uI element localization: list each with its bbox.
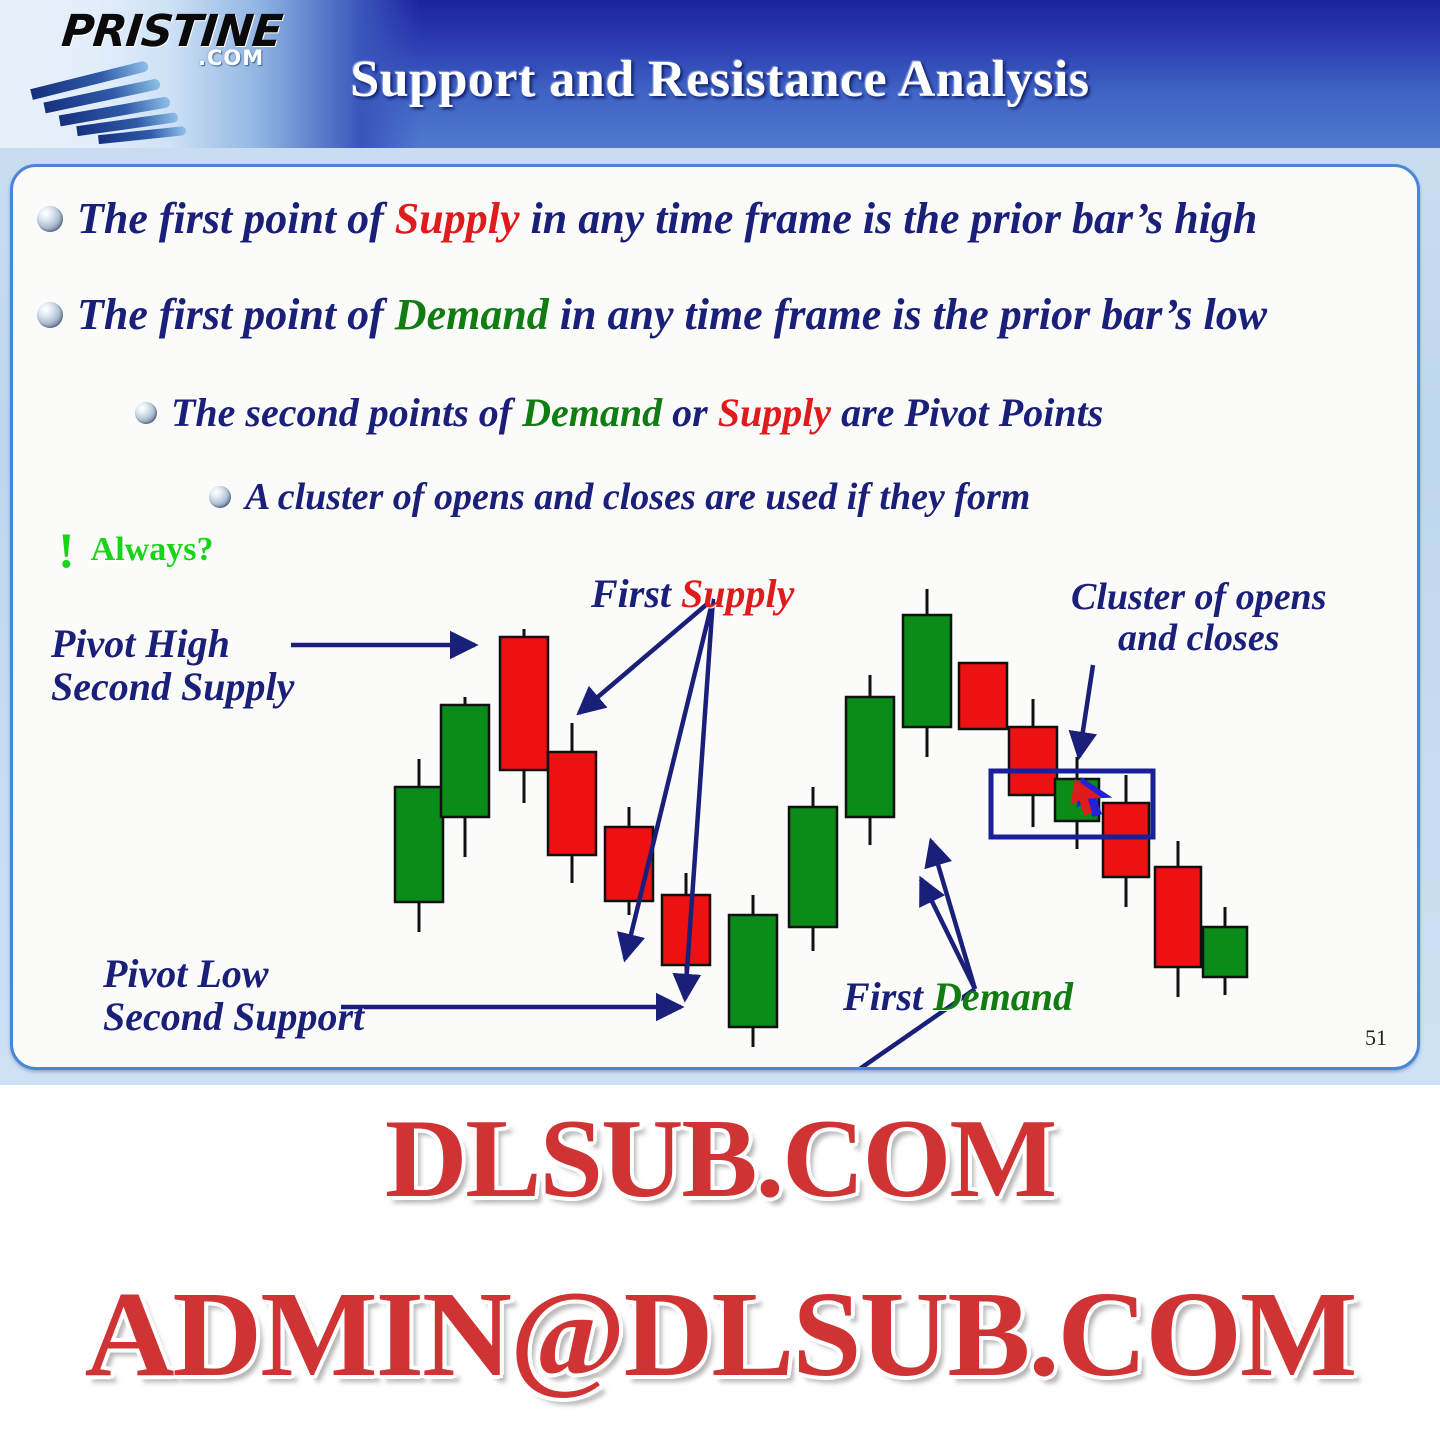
watermark-site: DLSUB.COM — [0, 1095, 1440, 1224]
candle-body-down — [1155, 867, 1201, 967]
arrow-cluster — [1079, 665, 1093, 757]
slide: PRISTINE .COM Support and Resistance Ana… — [0, 0, 1440, 1085]
candle-body-up — [789, 807, 837, 927]
candle-body-up — [441, 705, 489, 817]
annotation-first-demand-prefix: First — [843, 974, 933, 1019]
candle-body-down — [959, 663, 1007, 729]
annotation-cluster-line1: Cluster of opens — [1071, 577, 1326, 618]
annotation-pivot-high: Pivot High Second Supply — [51, 622, 294, 708]
annotation-first-demand-word: Demand — [933, 974, 1073, 1019]
annotation-cluster-line2: and closes — [1071, 618, 1326, 659]
candle-body-down — [548, 752, 596, 855]
annotation-pivot-high-line1: Pivot High — [51, 622, 294, 665]
candle-body-up — [903, 615, 951, 727]
annotation-first-supply: First Supply — [591, 572, 794, 615]
page-title: Support and Resistance Analysis — [0, 50, 1440, 109]
annotation-pivot-low-line1: Pivot Low — [103, 952, 364, 995]
candle-body-up — [395, 787, 443, 902]
watermark-area: DLSUB.COM ADMIN@DLSUB.COM — [0, 1085, 1440, 1440]
annotation-first-demand: First Demand — [843, 975, 1073, 1018]
candle-body-up — [1203, 927, 1247, 977]
candle-body-up — [846, 697, 894, 817]
candle-body-down — [1103, 803, 1149, 877]
slide-header: PRISTINE .COM Support and Resistance Ana… — [0, 0, 1440, 148]
candle-body-down — [500, 637, 548, 770]
watermark-email: ADMIN@DLSUB.COM — [0, 1265, 1440, 1405]
page-number: 51 — [1365, 1025, 1387, 1051]
annotation-first-supply-prefix: First — [591, 571, 681, 616]
candle-body-down — [1009, 727, 1057, 795]
annotation-first-supply-word: Supply — [681, 571, 794, 616]
arrow-first-supply — [579, 599, 713, 713]
candle-body-up — [729, 915, 777, 1027]
annotation-cluster: Cluster of opens and closes — [1071, 577, 1326, 659]
annotation-pivot-low: Pivot Low Second Support — [103, 952, 364, 1038]
annotation-pivot-high-line2: Second Supply — [51, 665, 294, 708]
slide-content-card: The first point of Supply in any time fr… — [10, 164, 1420, 1070]
candle-body-down — [605, 827, 653, 901]
annotation-pivot-low-line2: Second Support — [103, 995, 364, 1038]
